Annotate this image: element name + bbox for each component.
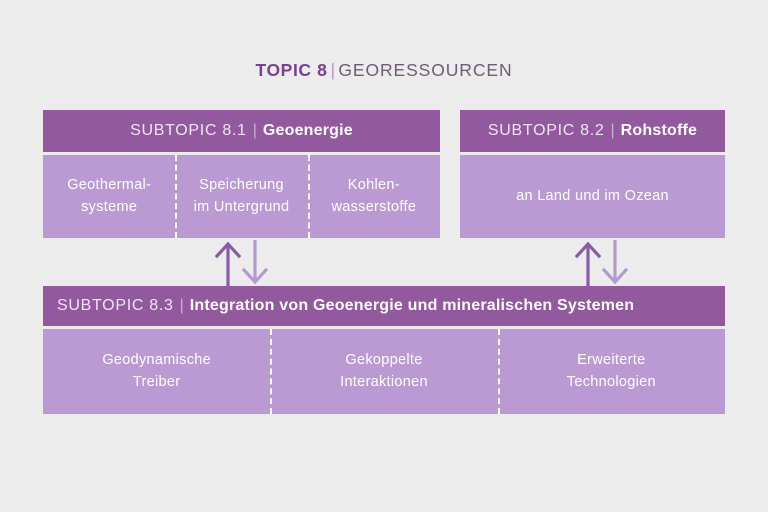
- subtopic-8-3-title: Integration von Geoenergie und mineralis…: [190, 297, 634, 315]
- subtopic-8-1-label: SUBTOPIC 8.1: [130, 122, 247, 140]
- subtopic-8-1-title: Geoenergie: [263, 122, 353, 140]
- page-title-strong: TOPIC 8: [256, 60, 328, 80]
- subtopic-8-1-header: SUBTOPIC 8.1 | Geoenergie: [43, 110, 440, 152]
- page-title-light: GEORESSOURCEN: [338, 60, 512, 80]
- page-title: TOPIC 8|GEORESSOURCEN: [0, 60, 768, 81]
- subtopic-8-2-body: an Land und im Ozean: [460, 155, 725, 238]
- subtopic-8-2-label: SUBTOPIC 8.2: [488, 122, 605, 140]
- arrow-up-icon: [217, 244, 239, 286]
- connector-left: [212, 240, 272, 286]
- arrow-down-icon: [244, 240, 266, 282]
- subtopic-card-8-2[interactable]: SUBTOPIC 8.2 | Rohstoffe an Land und im …: [460, 110, 725, 238]
- subtopic-8-1-separator: |: [247, 122, 263, 140]
- subtopic-8-2-cell-1[interactable]: an Land und im Ozean: [460, 155, 725, 238]
- arrow-up-icon: [577, 244, 599, 286]
- page-title-separator: |: [327, 60, 338, 80]
- subtopic-8-2-separator: |: [604, 122, 620, 140]
- subtopic-8-2-header: SUBTOPIC 8.2 | Rohstoffe: [460, 110, 725, 152]
- subtopic-card-8-3[interactable]: SUBTOPIC 8.3 | Integration von Geoenergi…: [43, 286, 725, 414]
- subtopic-8-3-body: GeodynamischeTreiber GekoppelteInterakti…: [43, 329, 725, 414]
- subtopic-8-1-cell-3[interactable]: Kohlen-wasserstoffe: [308, 155, 440, 238]
- subtopic-8-1-cell-1[interactable]: Geothermal-systeme: [43, 155, 175, 238]
- subtopic-8-3-header: SUBTOPIC 8.3 | Integration von Geoenergi…: [43, 286, 725, 326]
- subtopic-8-2-title: Rohstoffe: [621, 122, 697, 140]
- subtopic-8-3-separator: |: [174, 297, 190, 315]
- subtopic-8-3-label: SUBTOPIC 8.3: [57, 297, 174, 315]
- subtopic-card-8-1[interactable]: SUBTOPIC 8.1 | Geoenergie Geothermal-sys…: [43, 110, 440, 238]
- subtopic-8-1-cell-2[interactable]: Speicherungim Untergrund: [175, 155, 307, 238]
- subtopic-8-3-cell-2[interactable]: GekoppelteInteraktionen: [270, 329, 497, 414]
- connector-right: [572, 240, 632, 286]
- diagram-canvas: TOPIC 8|GEORESSOURCEN SUBTOPIC 8.1 | Geo…: [0, 0, 768, 512]
- subtopic-8-3-cell-1[interactable]: GeodynamischeTreiber: [43, 329, 270, 414]
- subtopic-8-3-cell-3[interactable]: ErweiterteTechnologien: [498, 329, 725, 414]
- subtopic-8-1-body: Geothermal-systeme Speicherungim Untergr…: [43, 155, 440, 238]
- arrow-down-icon: [604, 240, 626, 282]
